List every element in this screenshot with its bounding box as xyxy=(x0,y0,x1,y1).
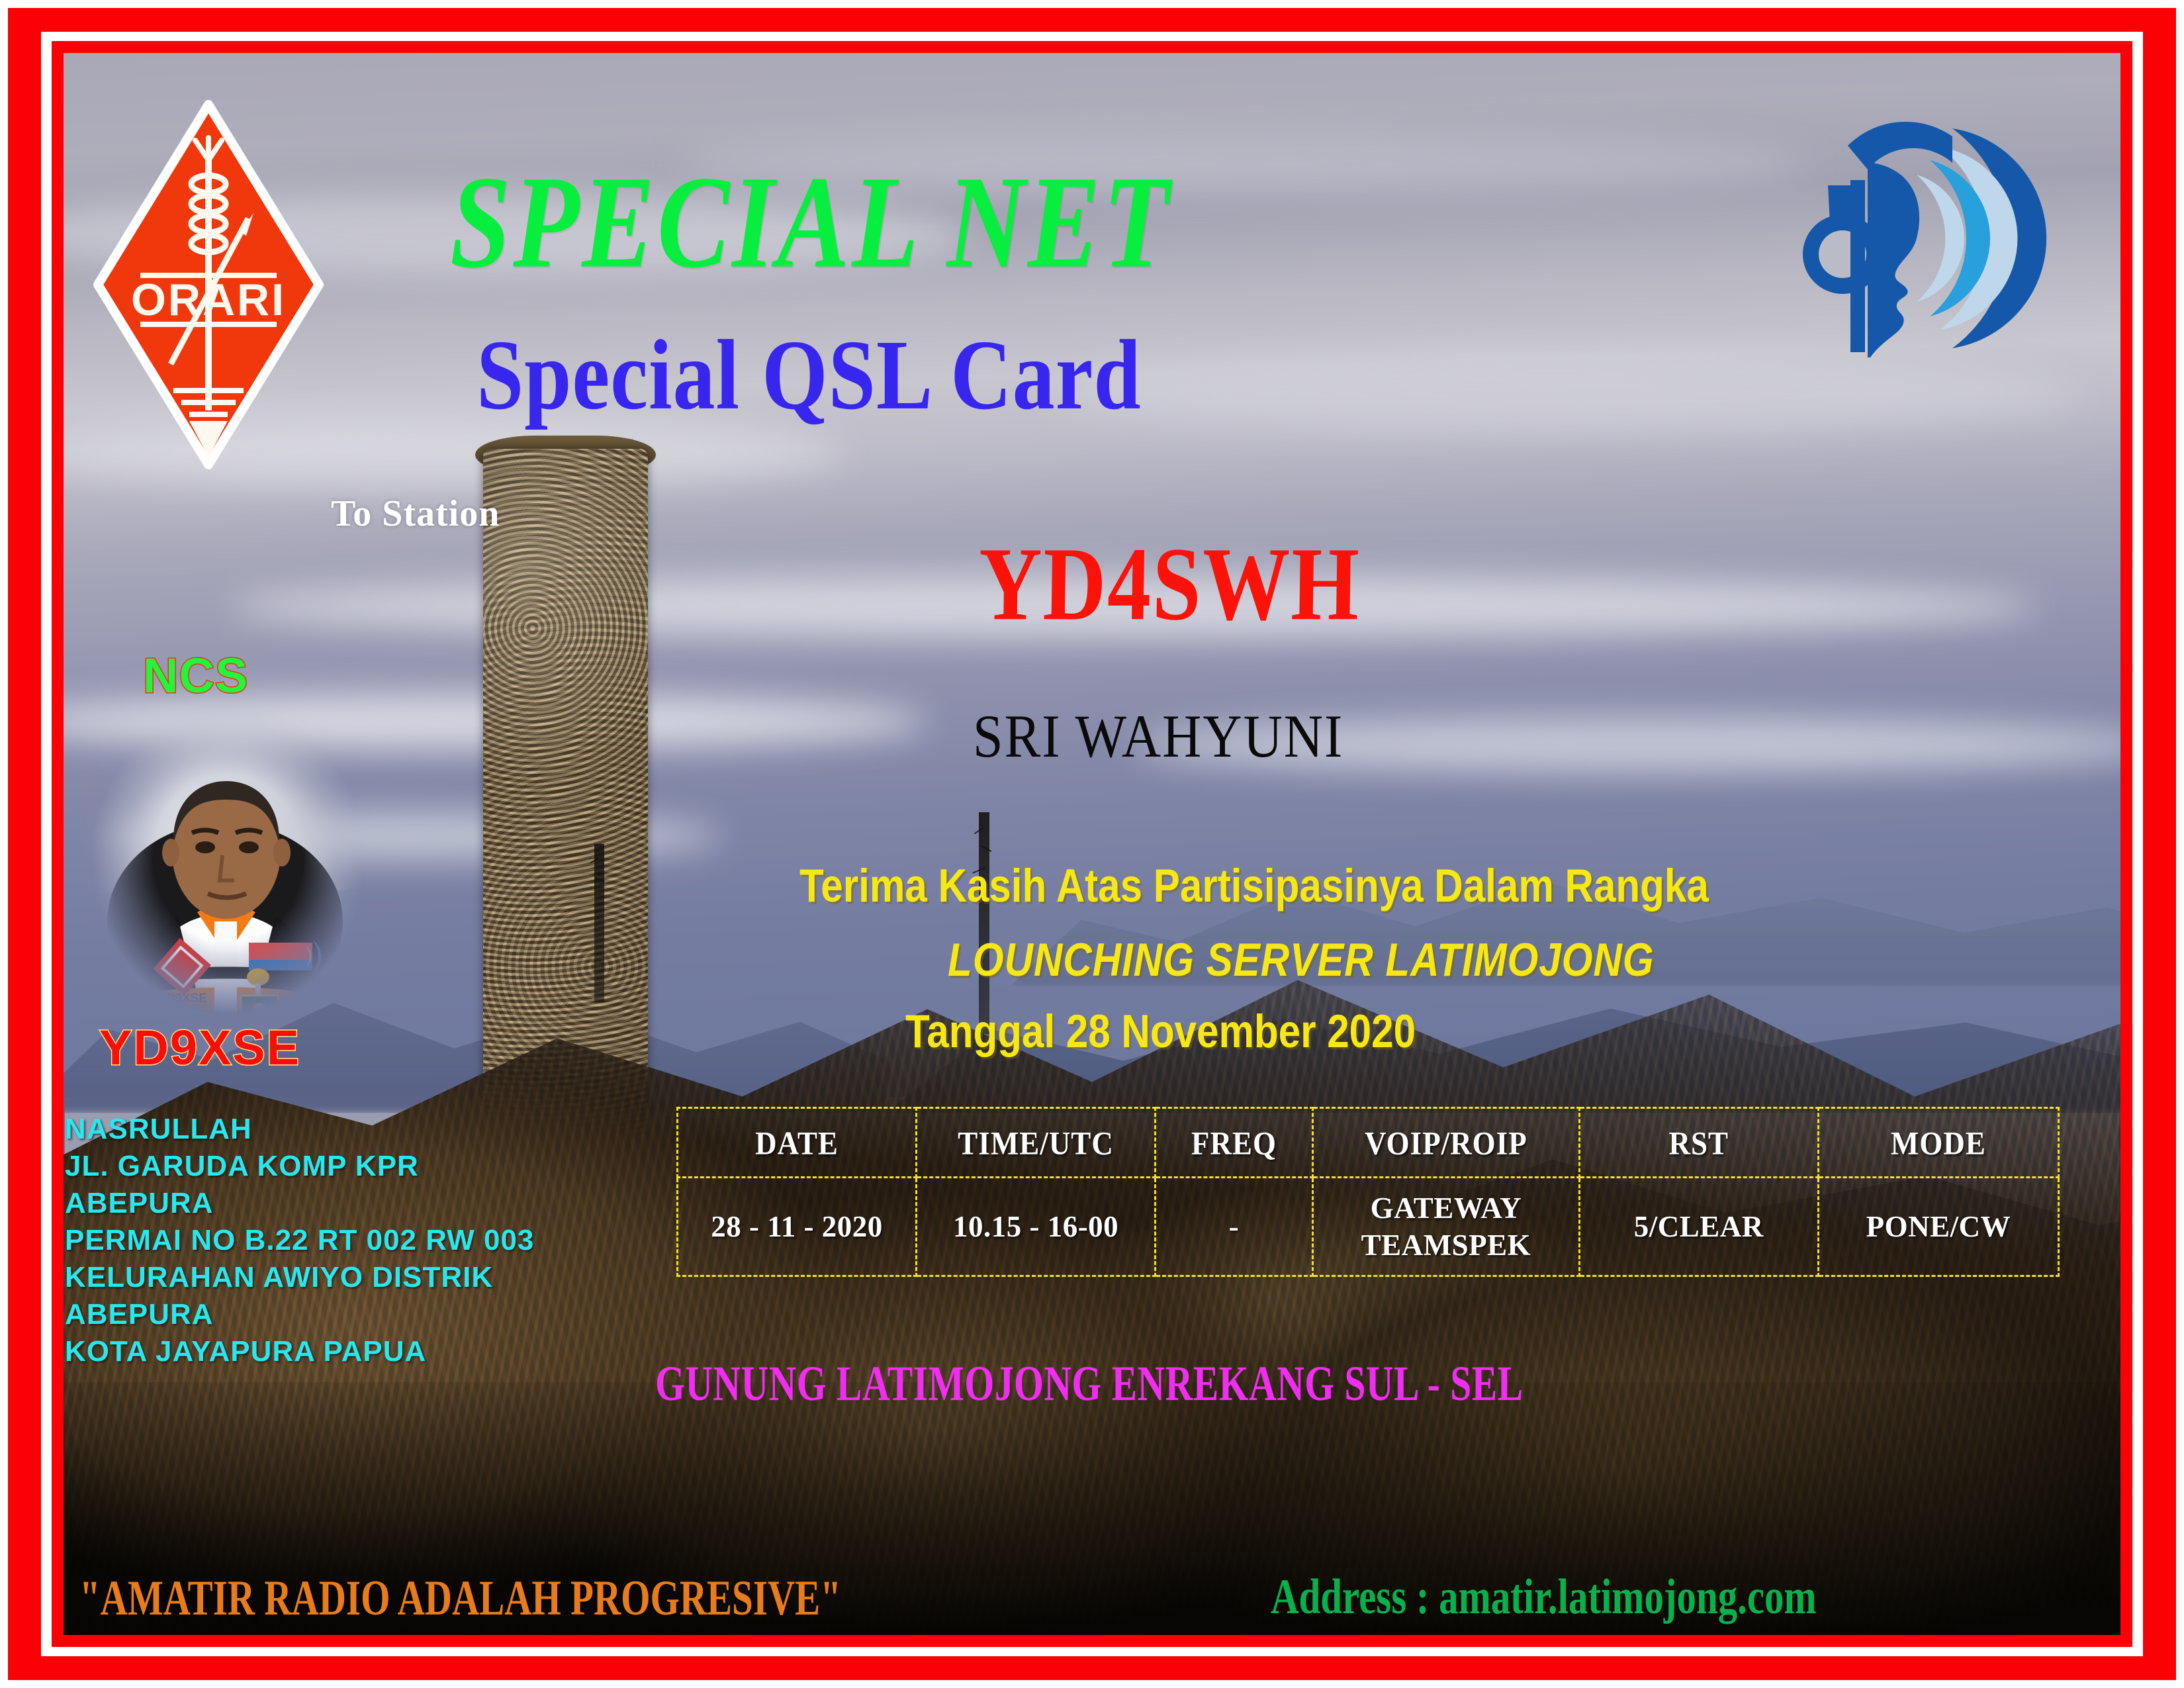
location-line: GUNUNG LATIMOJONG ENREKANG SUL - SEL xyxy=(655,1356,1524,1413)
cell-mode: PONE/CW xyxy=(1818,1178,2058,1276)
address-line: PERMAI NO B.22 RT 002 RW 003 xyxy=(65,1222,534,1259)
header-rst: RST xyxy=(1579,1104,1818,1181)
table-header-row: DATE TIME/UTC FREQ VOIP/ROIP RST MODE xyxy=(678,1108,2059,1178)
cell-date: 28 - 11 - 2020 xyxy=(678,1178,917,1276)
address-line: ABEPURA xyxy=(65,1296,534,1333)
page-subtitle: Special QSL Card xyxy=(477,318,1142,432)
address-line: ABEPURA xyxy=(65,1185,534,1222)
to-station-label: To Station xyxy=(331,492,500,535)
orari-diamond-logo: ORARI xyxy=(93,99,324,470)
cell-time: 10.15 - 16-00 xyxy=(917,1178,1156,1276)
ncs-callsign: YD9XSE xyxy=(99,1019,300,1076)
qso-log-table: DATE TIME/UTC FREQ VOIP/ROIP RST MODE 28… xyxy=(676,1107,2060,1277)
cell-voip-line1: GATEWAY xyxy=(1371,1192,1522,1225)
slogan-text: "AMATIR RADIO ADALAH PROGRESIVE" xyxy=(79,1570,841,1628)
address-line: KOTA JAYAPURA PAPUA xyxy=(65,1333,534,1370)
station-callsign: YD4SWH xyxy=(978,523,1361,645)
address-line: NASRULLAH xyxy=(65,1111,534,1148)
address-line: JL. GARUDA KOMP KPR xyxy=(65,1148,534,1185)
header-time-utc: TIME/UTC xyxy=(917,1104,1156,1181)
table-row: 28 - 11 - 2020 10.15 - 16-00 - GATEWAY T… xyxy=(678,1178,2059,1276)
cell-voip-line2: TEAMSPEK xyxy=(1361,1229,1531,1262)
header-mode: MODE xyxy=(1818,1104,2058,1181)
cell-rst: 5/CLEAR xyxy=(1579,1178,1818,1276)
web-address: Address : amatir.latimojong.com xyxy=(1271,1569,1817,1626)
cell-freq: - xyxy=(1156,1178,1313,1276)
mailing-address-block: NASRULLAH JL. GARUDA KOMP KPR ABEPURA PE… xyxy=(65,1111,534,1370)
cell-voip: GATEWAY TEAMSPEK xyxy=(1313,1178,1580,1276)
shirt-callsign-text: YD9XSE xyxy=(158,992,207,1006)
page-title: SPECIAL NET xyxy=(450,147,1171,299)
address-line: KELURAHAN AWIYO DISTRIK xyxy=(65,1259,534,1296)
thanks-message: Terima Kasih Atas Partisipasinya Dalam R… xyxy=(799,859,1709,913)
qsl-card: ORARI xyxy=(0,0,2184,1688)
operator-name: SRI WAHYUNI xyxy=(973,702,1343,771)
bare-tree xyxy=(979,812,989,1034)
header-voip-roip: VOIP/ROIP xyxy=(1313,1104,1580,1181)
ncs-label: NCS xyxy=(143,647,248,704)
header-date: DATE xyxy=(678,1104,917,1181)
orari-logo-text: ORARI xyxy=(131,275,286,325)
event-date: Tanggal 28 November 2020 xyxy=(905,1005,1416,1058)
header-freq: FREQ xyxy=(1156,1104,1313,1181)
ncs-operator-photo: YD9XSE xyxy=(73,703,384,1014)
bare-tree xyxy=(594,844,605,1002)
event-title: LOUNCHING SERVER LATIMOJONG xyxy=(948,933,1655,987)
headphone-profile-logo xyxy=(1787,106,2052,371)
